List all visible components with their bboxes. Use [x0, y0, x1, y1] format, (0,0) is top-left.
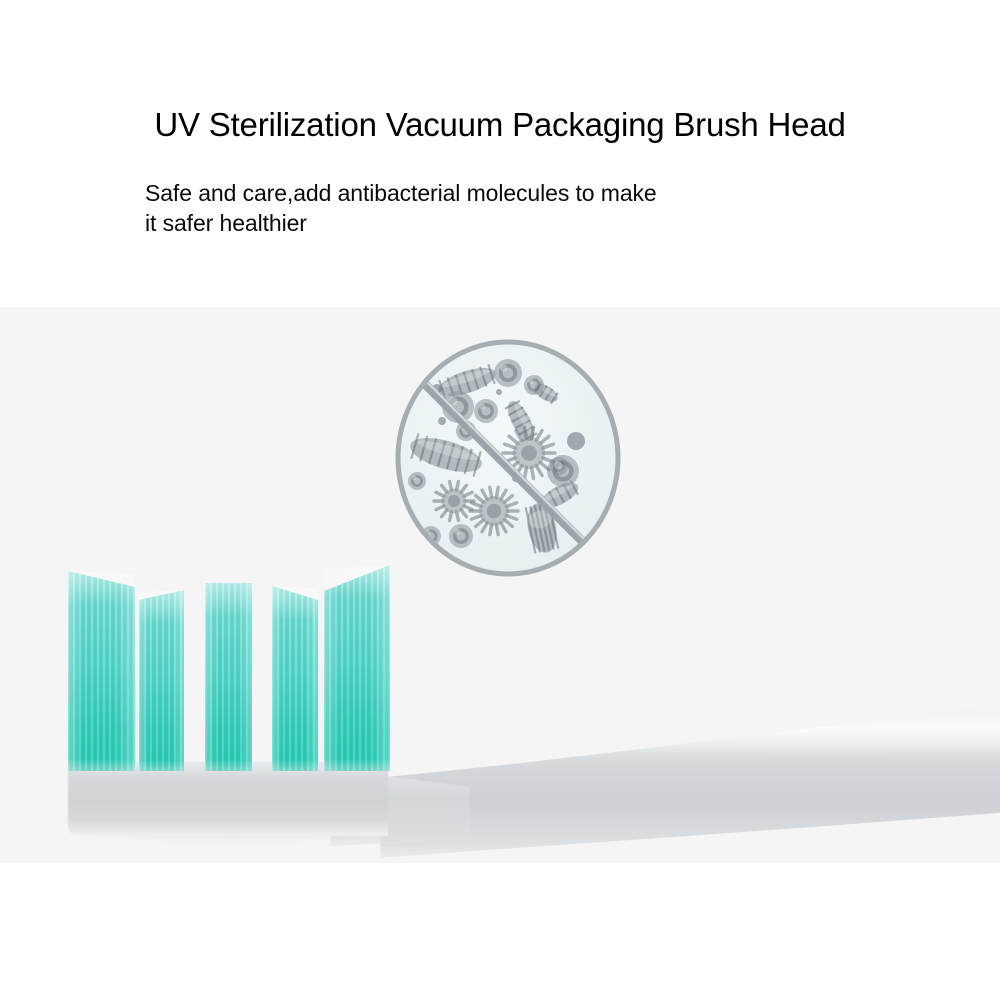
- germ-dot: [496, 389, 502, 395]
- toothbrush-handle-highlight: [380, 697, 1000, 863]
- page-title: UV Sterilization Vacuum Packaging Brush …: [0, 105, 1000, 145]
- germ-dot: [567, 432, 585, 450]
- no-bacteria-badge: [390, 335, 626, 581]
- germ-coccus: [408, 472, 426, 490]
- product-photo: [0, 307, 1000, 863]
- germ-coccus: [449, 524, 473, 548]
- germ-coccus: [494, 359, 522, 387]
- bristle-tuft-5: [324, 565, 390, 771]
- subtitle: Safe and care,add antibacterial molecule…: [145, 178, 905, 238]
- germ-dot: [438, 417, 446, 425]
- bristle-tuft-4: [272, 586, 318, 771]
- product-detail-image: UV Sterilization Vacuum Packaging Brush …: [0, 0, 1000, 1000]
- germ-coccus: [474, 399, 498, 423]
- germ-coccus: [524, 375, 544, 395]
- subtitle-line-2: it safer healthier: [145, 208, 905, 238]
- bristle-tuft-2: [139, 590, 184, 771]
- subtitle-line-1: Safe and care,add antibacterial molecule…: [145, 178, 905, 208]
- bristle-tuft-1: [68, 571, 135, 771]
- bristle-tuft-3: [205, 583, 252, 771]
- no-bacteria-badge-svg: [390, 335, 626, 581]
- text-block: UV Sterilization Vacuum Packaging Brush …: [0, 0, 1000, 307]
